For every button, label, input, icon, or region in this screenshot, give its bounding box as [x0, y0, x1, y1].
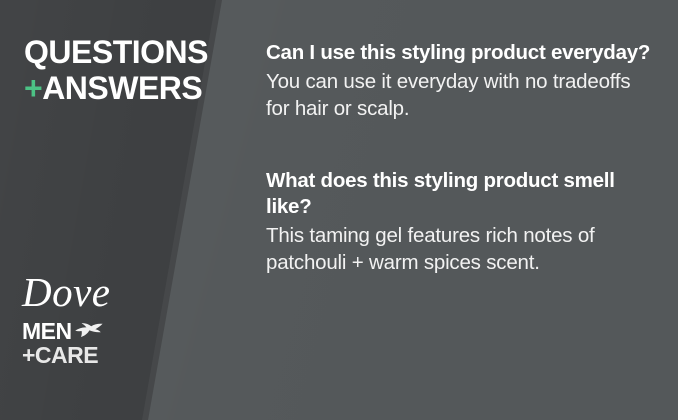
question-text-1: Can I use this styling product everyday?: [266, 40, 658, 66]
dove-men-care-logo: Dove MEN +CARE: [22, 272, 152, 367]
answer-text-1: You can use it everyday with no tradeoff…: [266, 68, 658, 122]
questions-answers-heading: QUESTIONS +ANSWERS: [24, 36, 208, 104]
heading-answers-word: ANSWERS: [42, 70, 202, 106]
logo-men-care-lockup: MEN +CARE: [22, 319, 126, 367]
slide-root: QUESTIONS +ANSWERS Can I use this stylin…: [0, 0, 678, 420]
dove-bird-icon: [74, 322, 104, 339]
heading-line-answers: +ANSWERS: [24, 72, 208, 104]
answer-text-2: This taming gel features rich notes of p…: [266, 222, 658, 276]
question-text-2: What does this styling product smell lik…: [266, 168, 658, 220]
heading-plus-icon: +: [24, 70, 42, 106]
qa-content-column: Can I use this styling product everyday?…: [266, 40, 658, 276]
logo-men-text: MEN: [22, 320, 72, 343]
logo-men-row: MEN: [22, 319, 126, 343]
logo-care-text: +CARE: [22, 344, 98, 367]
qa-block-2: What does this styling product smell lik…: [266, 168, 658, 276]
qa-block-1: Can I use this styling product everyday?…: [266, 40, 658, 122]
heading-line-questions: QUESTIONS: [24, 36, 208, 68]
logo-brand-wordmark: Dove: [22, 272, 152, 313]
logo-care-row: +CARE: [22, 343, 126, 367]
